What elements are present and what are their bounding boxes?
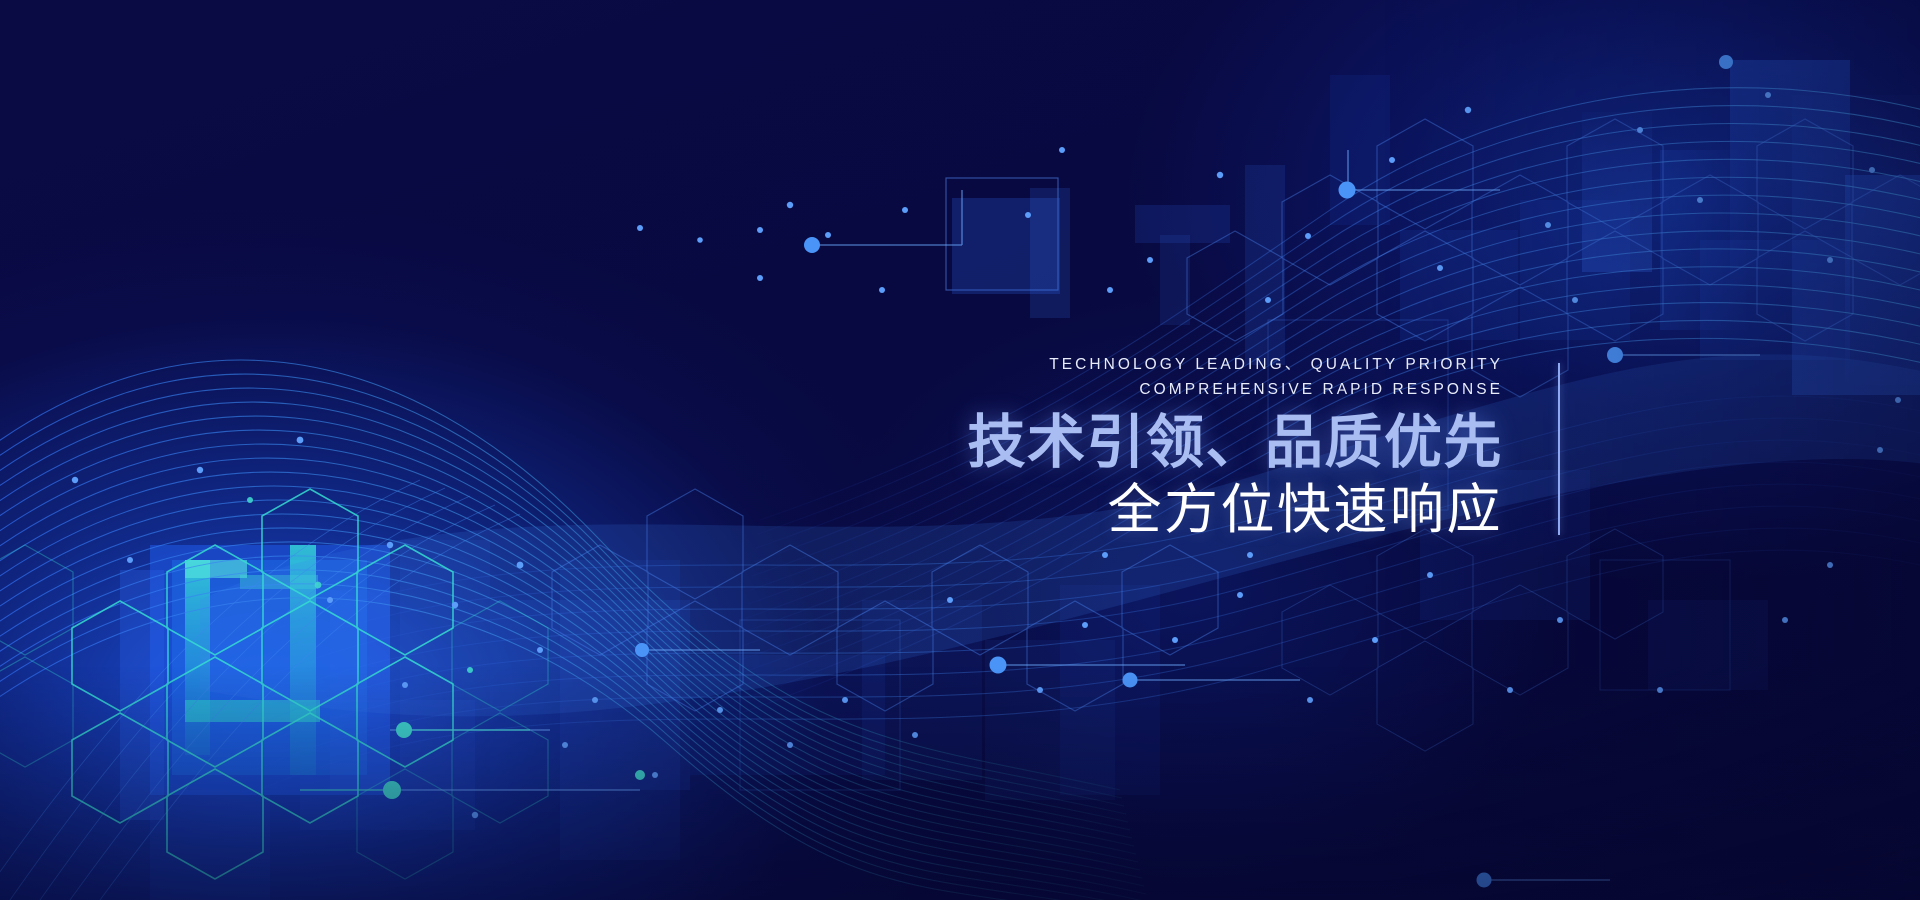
english-tagline-line-1: TECHNOLOGY LEADING、 QUALITY PRIORITY bbox=[0, 352, 1503, 377]
hero-banner: TECHNOLOGY LEADING、 QUALITY PRIORITY COM… bbox=[0, 0, 1920, 900]
node-dots-large-cyan bbox=[383, 722, 645, 799]
connector-lines-cyan bbox=[300, 730, 530, 790]
english-tagline-line-2: COMPREHENSIVE RAPID RESPONSE bbox=[0, 377, 1503, 402]
hero-text-block: TECHNOLOGY LEADING、 QUALITY PRIORITY COM… bbox=[0, 352, 1503, 541]
chinese-subheadline: 全方位快速响应 bbox=[0, 479, 1503, 541]
vertical-divider-line bbox=[1558, 363, 1560, 535]
chinese-headline: 技术引领、品质优先 bbox=[0, 411, 1503, 475]
